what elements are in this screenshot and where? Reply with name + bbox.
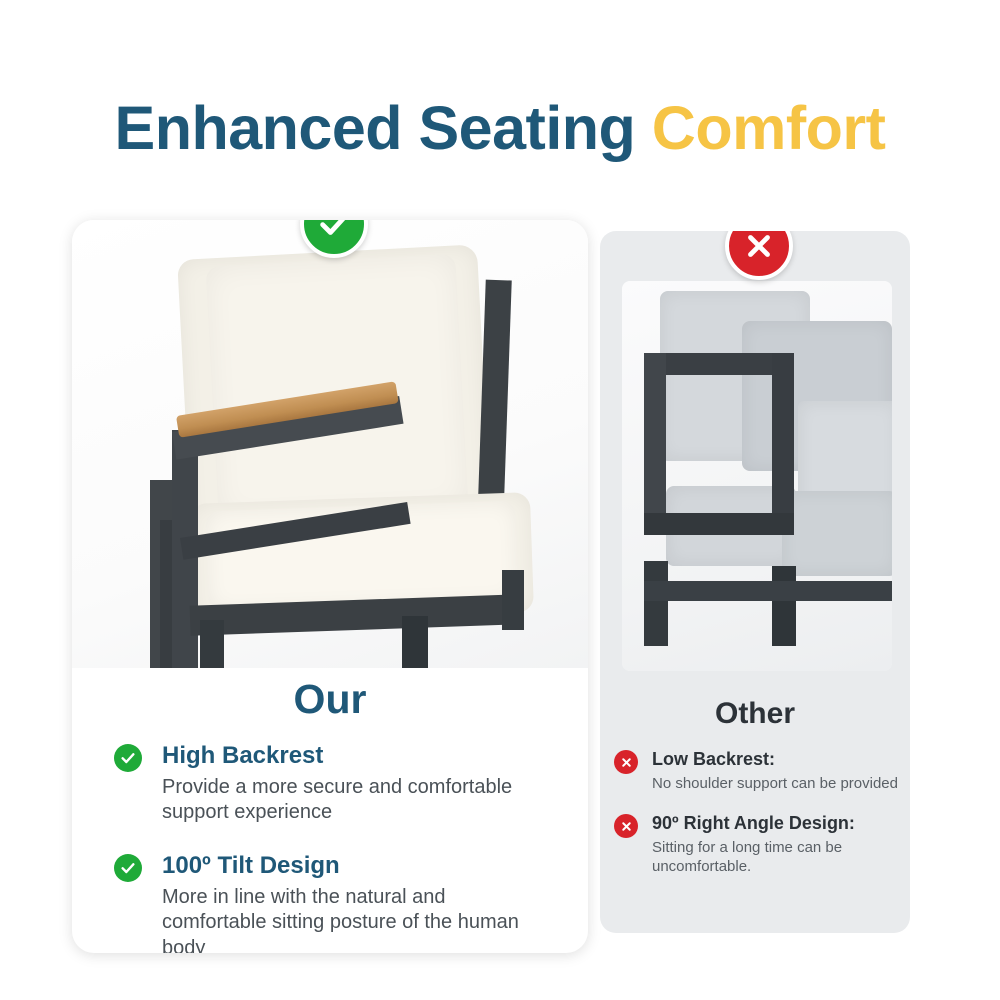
our-feature-2-heading: 100º Tilt Design [162,852,554,881]
our-title: Our [72,676,588,723]
comparison-infographic: Enhanced Seating Comfort [0,0,1000,1000]
other-feature-1-heading: Low Backrest: [652,749,904,771]
check-circle-icon [114,744,142,772]
our-feature-item-2: 100º Tilt Design More in line with the n… [114,852,554,953]
our-feature-item-1: High Backrest Provide a more secure and … [114,742,554,826]
page-title: Enhanced Seating Comfort [0,96,1000,160]
other-feature-item-1: Low Backrest: No shoulder support can be… [614,749,904,793]
other-feature-2-body: Sitting for a long time can be uncomfort… [652,838,904,877]
check-circle-icon [114,854,142,882]
our-product-photo [72,220,588,668]
other-feature-1-body: No shoulder support can be provided [652,774,904,794]
cross-badge [725,231,793,280]
our-feature-2-body: More in line with the natural and comfor… [162,885,554,953]
other-product-photo [622,281,892,671]
our-panel: Our High Backrest Provide a more secure … [72,220,588,953]
our-feature-list: High Backrest Provide a more secure and … [114,742,554,953]
other-feature-item-2: 90º Right Angle Design: Sitting for a lo… [614,813,904,877]
our-feature-1-heading: High Backrest [162,742,554,771]
cross-circle-icon [614,750,638,774]
other-title: Other [600,697,910,731]
other-feature-list: Low Backrest: No shoulder support can be… [614,749,904,897]
cross-circle-icon [614,814,638,838]
other-panel: Other Low Backrest: No shoulder support … [600,231,910,933]
our-feature-1-body: Provide a more secure and comfortable su… [162,775,554,826]
page-title-part-2: Comfort [652,94,886,162]
other-feature-2-heading: 90º Right Angle Design: [652,813,904,835]
page-title-part-1: Enhanced Seating [115,94,652,162]
